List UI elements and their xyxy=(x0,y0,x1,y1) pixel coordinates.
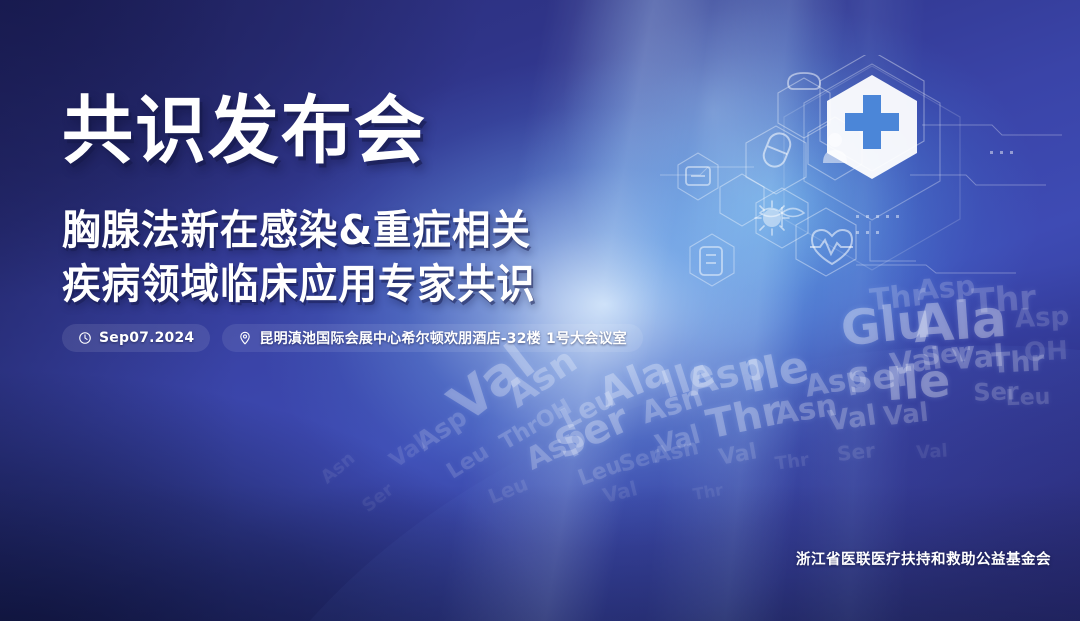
poster-subtitle: 胸腺法新在感染&重症相关 疾病领域临床应用专家共识 xyxy=(62,203,536,311)
conference-poster: AspValLeuAsnThrOHLeuAspSerLeuAlaAsnValIl… xyxy=(0,0,1080,621)
subtitle-line-1: 胸腺法新在感染&重症相关 xyxy=(62,203,536,257)
organizer-name: 浙江省医联医疗扶持和救助公益基金会 xyxy=(796,548,1051,569)
event-location-text: 昆明滇池国际会展中心希尔顿欢朋酒店-32楼 1号大会议室 xyxy=(259,328,627,348)
page-title: 共识发布会 xyxy=(62,94,427,168)
event-date-badge: Sep07.2024 xyxy=(62,324,210,352)
event-date-text: Sep07.2024 xyxy=(99,330,194,346)
event-location-badge: 昆明滇池国际会展中心希尔顿欢朋酒店-32楼 1号大会议室 xyxy=(222,324,643,352)
clock-icon xyxy=(78,331,92,345)
subtitle-line-2: 疾病领域临床应用专家共识 xyxy=(62,257,536,311)
poster-content: 共识发布会 胸腺法新在感染&重症相关 疾病领域临床应用专家共识 Sep07.20… xyxy=(0,0,1080,621)
map-pin-icon xyxy=(238,331,252,345)
event-meta-row: Sep07.2024 昆明滇池国际会展中心希尔顿欢朋酒店-32楼 1号大会议室 xyxy=(62,324,643,352)
